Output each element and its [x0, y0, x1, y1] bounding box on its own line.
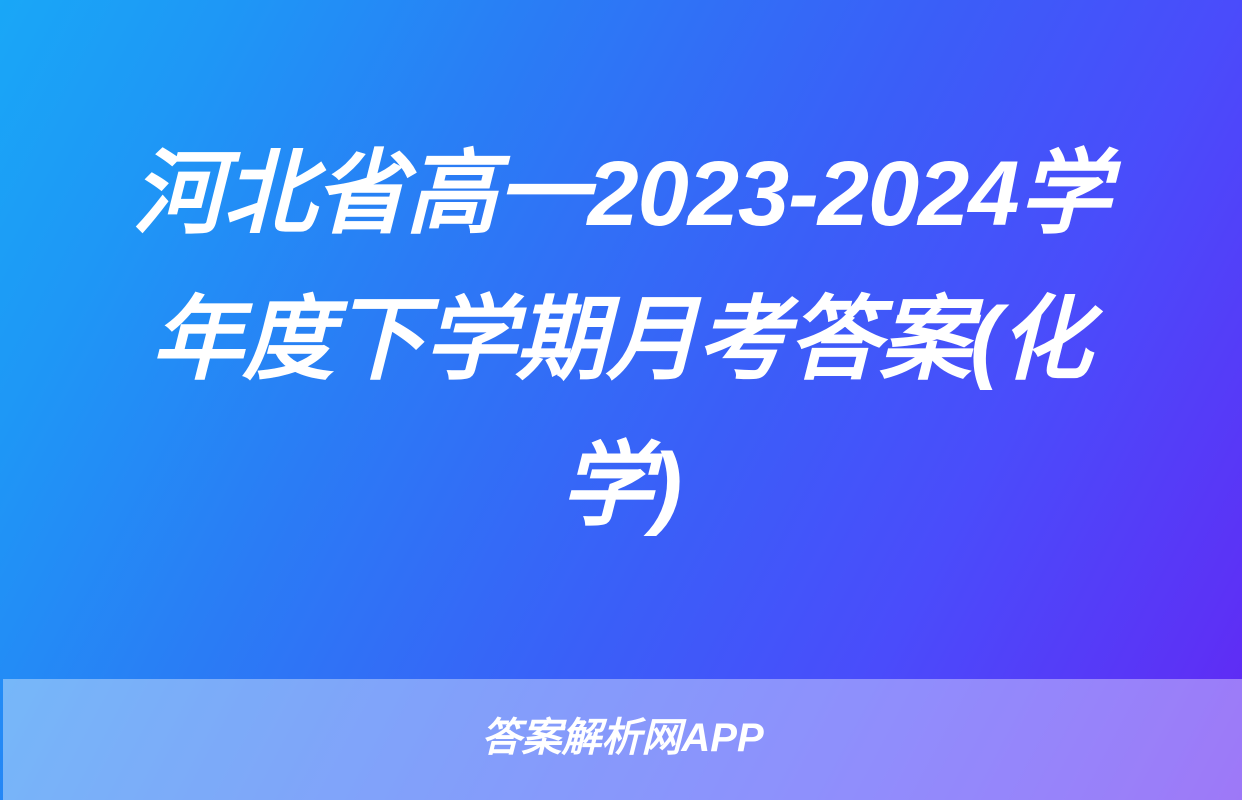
page-title: 河北省高一2023-2024学年度下学期月考答案(化学) [101, 121, 1141, 559]
title-container: 河北省高一2023-2024学年度下学期月考答案(化学) [0, 0, 1242, 679]
answer-thumbnail-card: 河北省高一2023-2024学年度下学期月考答案(化学) 答案解析网APP [0, 0, 1242, 800]
watermark-band: 答案解析网APP [3, 679, 1242, 800]
watermark-brand-text: 答案解析网APP [481, 718, 763, 758]
